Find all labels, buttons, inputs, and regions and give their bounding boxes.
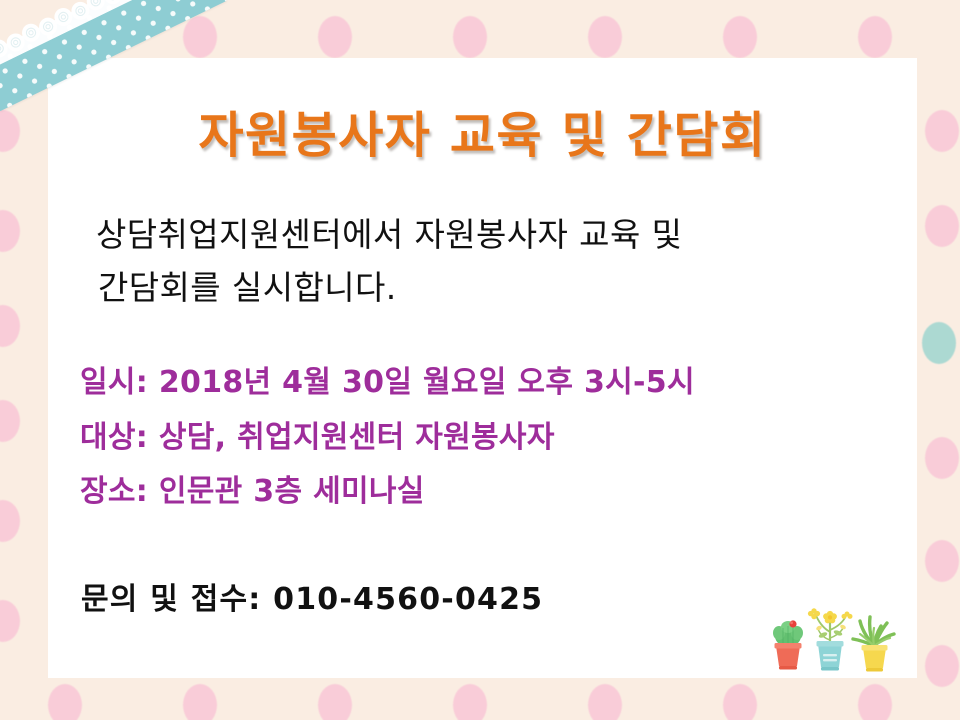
background-dot: [925, 540, 959, 582]
background-dot: [925, 205, 959, 247]
background-dot: [723, 684, 757, 720]
detail-datetime: 일시: 2018년 4월 30일 월요일 오후 3시-5시: [80, 356, 695, 411]
background-dot: [0, 500, 20, 542]
background-dot: [858, 16, 892, 58]
background-dot: [318, 684, 352, 720]
fern-in-yellow-pot-icon: [853, 617, 894, 672]
background-dot: [0, 210, 20, 252]
background-dot: [183, 684, 217, 720]
contact-line: 문의 및 접수: 010-4560-0425: [81, 574, 543, 618]
background-dot: [0, 600, 20, 642]
background-dot: [453, 16, 487, 58]
background-dot-mint: [922, 322, 956, 364]
background-dot: [858, 684, 892, 720]
background-dot: [48, 16, 82, 58]
background-dot: [0, 110, 20, 152]
cactus-in-coral-pot-icon: [773, 620, 803, 669]
background-dot: [318, 16, 352, 58]
background-dot: [48, 684, 82, 720]
background-dot: [0, 305, 20, 347]
background-dot: [183, 16, 217, 58]
background-dot: [588, 684, 622, 720]
background-dot: [588, 16, 622, 58]
event-details-list: 일시: 2018년 4월 30일 월요일 오후 3시-5시 대상: 상담, 취업…: [80, 356, 695, 520]
potted-plants-illustration: [763, 588, 899, 674]
detail-audience: 대상: 상담, 취업지원센터 자원봉사자: [80, 411, 695, 466]
poster-canvas: 자원봉사자 교육 및 간담회 상담취업지원센터에서 자원봉사자 교육 및 간담회…: [0, 0, 960, 720]
background-dot: [0, 400, 20, 442]
poster-card: 자원봉사자 교육 및 간담회 상담취업지원센터에서 자원봉사자 교육 및 간담회…: [48, 58, 917, 678]
background-dot: [925, 437, 959, 479]
background-dot: [453, 684, 487, 720]
intro-line-1: 상담취업지원센터에서 자원봉사자 교육 및: [96, 208, 886, 261]
intro-line-2: 간담회를 실시합니다.: [96, 261, 886, 314]
background-dot: [723, 16, 757, 58]
background-dot: [925, 645, 959, 687]
intro-paragraph: 상담취업지원센터에서 자원봉사자 교육 및 간담회를 실시합니다.: [96, 208, 886, 315]
page-title: 자원봉사자 교육 및 간담회: [48, 96, 917, 167]
yellow-flower-in-teal-pot-icon: [808, 608, 853, 670]
background-dot: [925, 110, 959, 152]
detail-location: 장소: 인문관 3층 세미나실: [80, 465, 695, 520]
